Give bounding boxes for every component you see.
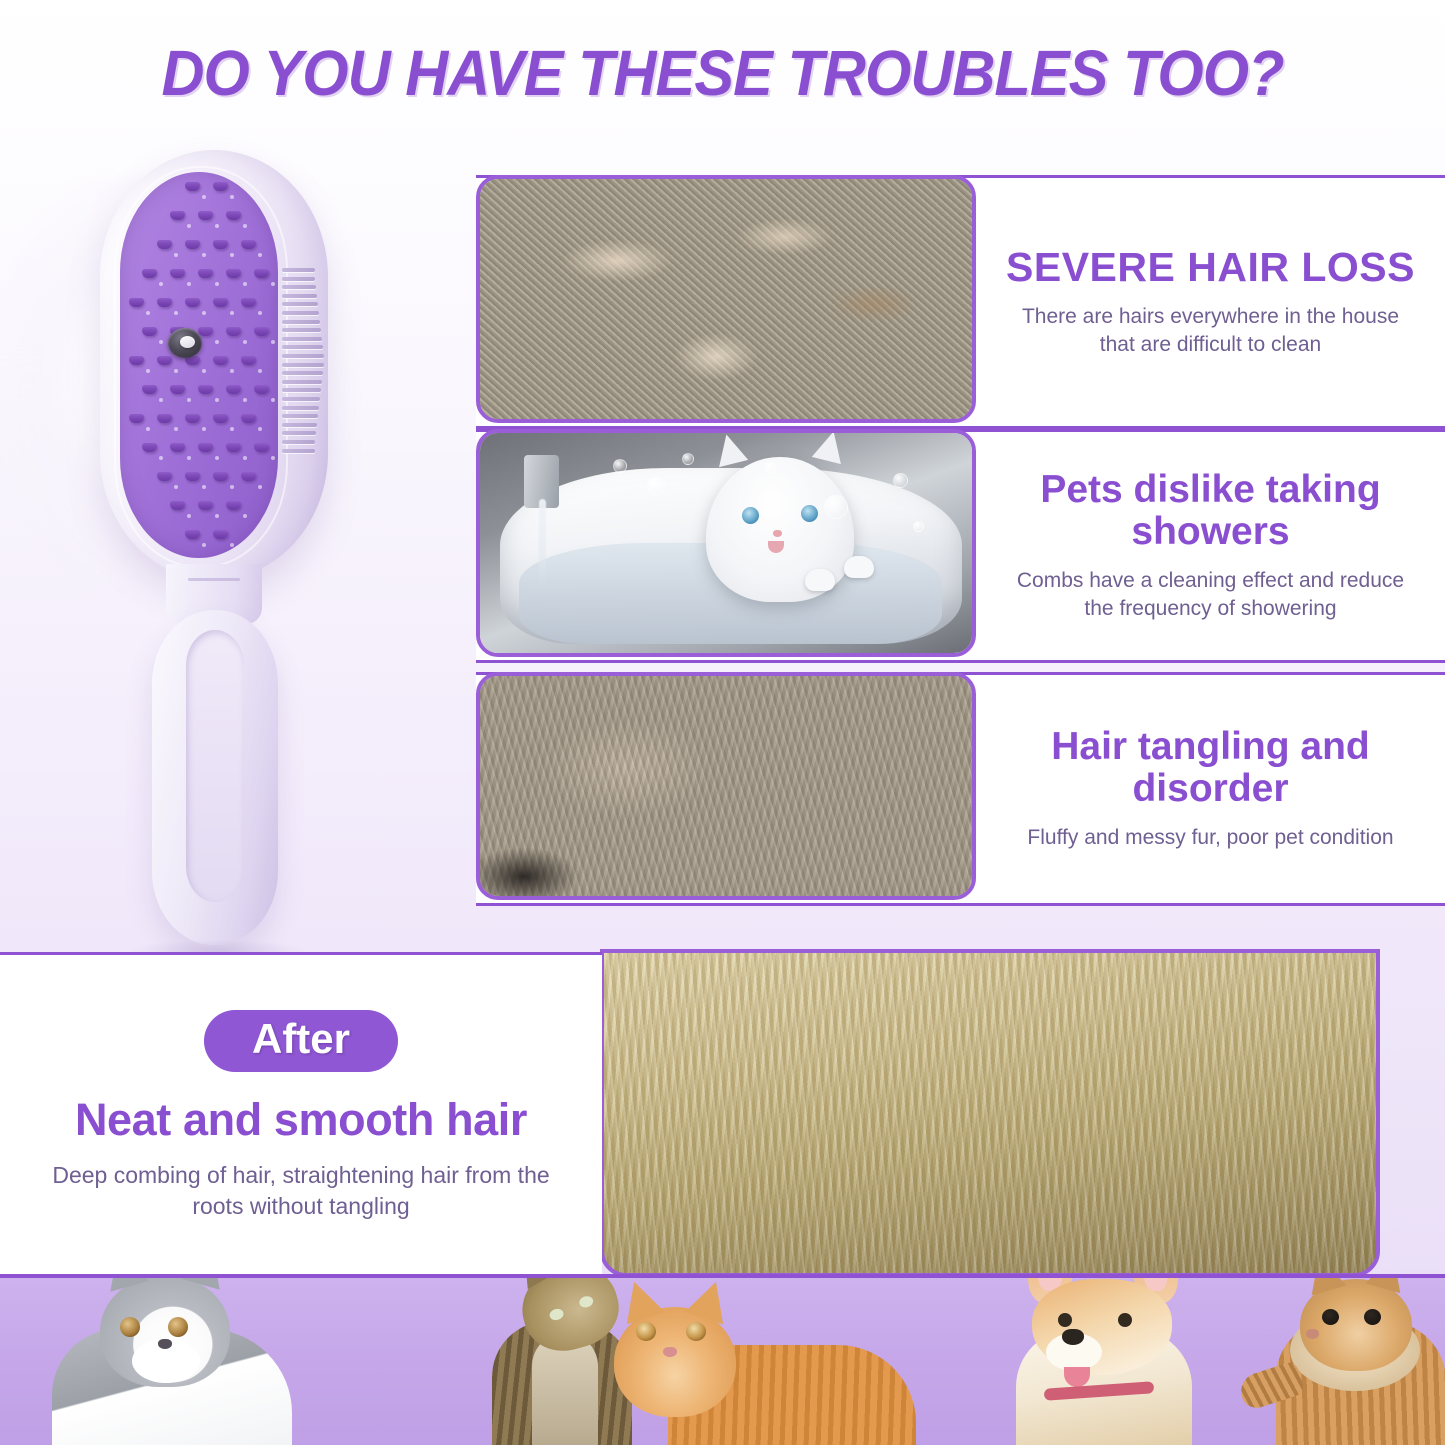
- water-stream: [539, 499, 546, 591]
- comb-vent-slat: [282, 354, 324, 358]
- problem-image: [476, 672, 976, 900]
- matted-fur-photo: [480, 676, 972, 896]
- product-infographic: DO YOU HAVE THESE TROUBLES TOO? SEVERE H…: [0, 0, 1445, 1445]
- comb-vent-slat: [282, 397, 320, 401]
- comb-vent-slat: [282, 294, 317, 298]
- comb-vent-slat: [282, 440, 315, 444]
- problem-title: Hair tangling and disorder: [1026, 726, 1396, 810]
- comb-vent-slat: [282, 380, 322, 384]
- comb-vent-slat: [282, 277, 315, 281]
- problem-title: Pets dislike taking showers: [1021, 469, 1401, 553]
- pet-photo-band: [0, 1274, 1445, 1445]
- product-image: [92, 140, 392, 920]
- problem-image: [476, 175, 976, 423]
- problem-subtitle: There are hairs everywhere in the house …: [1011, 303, 1411, 358]
- comb-vent-slat: [282, 449, 315, 453]
- comb-vent-slat: [282, 328, 321, 332]
- handle-opening: [186, 630, 244, 902]
- brush-head: [100, 150, 328, 580]
- problem-subtitle: Fluffy and messy fur, poor pet condition: [1027, 824, 1393, 852]
- problem-text: Pets dislike taking showers Combs have a…: [976, 432, 1445, 660]
- problem-card: Pets dislike taking showers Combs have a…: [476, 429, 1445, 663]
- comb-vent-slat: [282, 311, 319, 315]
- head-seam: [114, 166, 288, 568]
- problem-card: SEVERE HAIR LOSS There are hairs everywh…: [476, 175, 1445, 429]
- after-badge: After: [204, 1010, 398, 1072]
- problem-text: Hair tangling and disorder Fluffy and me…: [976, 675, 1445, 903]
- smooth-fur-photo: [600, 949, 1380, 1277]
- loop-handle: [152, 610, 278, 945]
- comb-vent-slat: [282, 268, 315, 272]
- comb-vent-slat: [282, 363, 324, 367]
- after-title: Neat and smooth hair: [75, 1094, 527, 1146]
- after-section: After Neat and smooth hair Deep combing …: [0, 952, 1380, 1274]
- problem-card: Hair tangling and disorder Fluffy and me…: [476, 672, 1445, 906]
- comb-vent-slat: [282, 371, 323, 375]
- comb-vent-slat: [282, 302, 318, 306]
- problem-title: SEVERE HAIR LOSS: [1006, 245, 1415, 289]
- comb-vent-slat: [282, 285, 316, 289]
- page-title: DO YOU HAVE THESE TROUBLES TOO?: [51, 36, 1395, 110]
- comb-vent-slat: [282, 345, 323, 349]
- comb-vent-slat: [282, 414, 318, 418]
- animal-grey-shorthair-cat: [52, 1279, 292, 1445]
- comb-vents: [282, 268, 326, 458]
- comb-vent-slat: [282, 320, 320, 324]
- comb-vent-slat: [282, 388, 321, 392]
- animal-orange-tabby-cat: [608, 1299, 908, 1445]
- animal-longhair-ginger-cat: [1256, 1278, 1445, 1445]
- problem-image: [476, 429, 976, 657]
- hair-on-carpet-photo: [480, 179, 972, 419]
- comb-vent-slat: [282, 337, 322, 341]
- problem-text: SEVERE HAIR LOSS There are hairs everywh…: [976, 178, 1445, 426]
- steam-nozzle-icon: [168, 328, 202, 358]
- comb-vent-slat: [282, 431, 316, 435]
- comb-vent-slat: [282, 406, 319, 410]
- problem-subtitle: Combs have a cleaning effect and reduce …: [1011, 567, 1411, 622]
- cat-in-bathtub-photo: [480, 433, 972, 653]
- comb-vent-slat: [282, 423, 317, 427]
- neck-seam: [188, 578, 240, 581]
- after-card: After Neat and smooth hair Deep combing …: [0, 952, 602, 1280]
- after-subtitle: Deep combing of hair, straightening hair…: [51, 1160, 551, 1222]
- animal-corgi-dog: [992, 1278, 1222, 1445]
